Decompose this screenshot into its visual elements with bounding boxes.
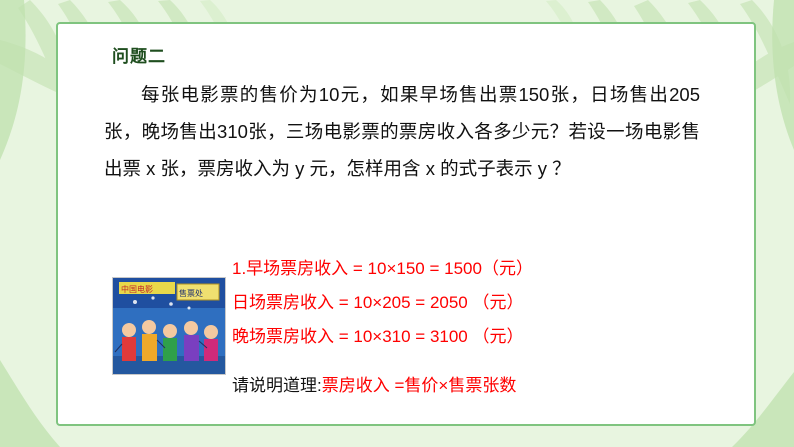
reason-text: 票房收入 =售价×售票张数 bbox=[322, 376, 517, 395]
answer-line-3: 晚场票房收入 = 10×310 = 3100 （元） bbox=[232, 320, 702, 354]
page-title: 问题二 bbox=[112, 42, 166, 67]
answers-list: 1.早场票房收入 = 10×150 = 1500（元） 日场票房收入 = 10×… bbox=[232, 252, 702, 354]
answer-line-2: 日场票房收入 = 10×205 = 2050 （元） bbox=[232, 286, 702, 320]
reason-line: 请说明道理:票房收入 =售价×售票张数 bbox=[232, 371, 516, 396]
svg-text:中国电影: 中国电影 bbox=[121, 284, 153, 294]
answer-line-1: 1.早场票房收入 = 10×150 = 1500（元） bbox=[232, 252, 702, 286]
reason-label: 请说明道理: bbox=[232, 376, 322, 395]
svg-text:售票处: 售票处 bbox=[179, 288, 203, 298]
illustration-graphic: 中国电影 售票处 bbox=[113, 278, 225, 374]
slide: 问题二 每张电影票的售价为10元，如果早场售出票150张，日场售出205张，晚场… bbox=[0, 0, 794, 447]
illustration-image: 中国电影 售票处 bbox=[112, 277, 226, 375]
question-text: 每张电影票的售价为10元，如果早场售出票150张，日场售出205张，晚场售出31… bbox=[104, 76, 700, 187]
